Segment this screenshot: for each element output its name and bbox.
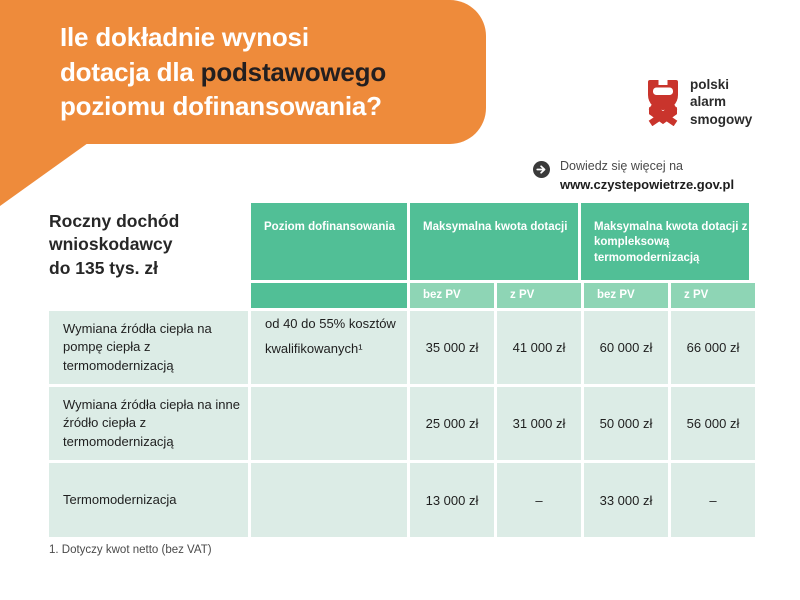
polski-alarm-smogowy-mark-icon — [645, 78, 681, 126]
row-3-value-1: 13 000 zł — [410, 463, 494, 537]
subheader-spacer — [49, 283, 248, 308]
row-3-value-3: 33 000 zł — [584, 463, 668, 537]
logo-wordmark: polski alarm smogowy — [690, 76, 752, 128]
row-3-label: Termomodernizacja — [49, 463, 248, 537]
row-1-value-3: 60 000 zł — [584, 311, 668, 384]
learn-more-text-block: Dowiedz się więcej na www.czystepowietrz… — [560, 158, 734, 194]
subheader-bez-pv-2: bez PV — [584, 283, 668, 308]
title-line-3: poziomu dofinansowania? — [60, 89, 470, 124]
arrow-right-circle-icon — [533, 161, 550, 178]
logo-line-3: smogowy — [690, 111, 752, 128]
row-1-value-1: 35 000 zł — [410, 311, 494, 384]
level-value-cell-continuation — [251, 387, 407, 460]
row-3-value-4: – — [671, 463, 755, 537]
learn-more-url[interactable]: www.czystepowietrze.gov.pl — [560, 176, 734, 194]
learn-more-label: Dowiedz się więcej na — [560, 158, 734, 176]
level-value-cell: od 40 do 55% kosztów kwalifikowanych¹ — [251, 311, 407, 384]
row-2-value-2: 31 000 zł — [497, 387, 581, 460]
logo-line-2: alarm — [690, 93, 752, 110]
column-header-group-2: Maksymalna kwota dotacji z kompleksową t… — [581, 203, 749, 280]
subheader-bez-pv-1: bez PV — [410, 283, 494, 308]
column-header-level: Poziom dofinansowania — [251, 203, 407, 280]
subheader-z-pv-2: z PV — [671, 283, 755, 308]
row-3-value-2: – — [497, 463, 581, 537]
title-line-2-accent: podstawowego — [201, 57, 386, 87]
speech-bubble-tail — [0, 138, 95, 206]
footnote: 1. Dotyczy kwot netto (bez VAT) — [49, 544, 212, 556]
learn-more-link[interactable]: Dowiedz się więcej na www.czystepowietrz… — [533, 158, 734, 194]
table-subheader-row: bez PV z PV bez PV z PV — [49, 283, 751, 308]
title-line-2-plain: dotacja dla — [60, 57, 201, 87]
table-header-row: Roczny dochódwnioskodawcydo 135 tys. zł … — [49, 203, 751, 280]
column-header-group-1: Maksymalna kwota dotacji — [410, 203, 578, 280]
subheader-z-pv-1: z PV — [497, 283, 581, 308]
row-2-value-3: 50 000 zł — [584, 387, 668, 460]
row-2-value-1: 25 000 zł — [410, 387, 494, 460]
row-1-label: Wymiana źródła ciepła na pompę ciepła z … — [49, 311, 248, 384]
level-value-cell-continuation-2 — [251, 463, 407, 537]
table-row: Wymiana źródła ciepła na inne źródło cie… — [49, 387, 751, 460]
title-line-1: Ile dokładnie wynosi — [60, 20, 470, 55]
grant-amounts-table: Roczny dochódwnioskodawcydo 135 tys. zł … — [49, 203, 751, 537]
title-banner: Ile dokładnie wynosi dotacja dla podstaw… — [0, 0, 486, 206]
row-1-value-2: 41 000 zł — [497, 311, 581, 384]
row-2-label: Wymiana źródła ciepła na inne źródło cie… — [49, 387, 248, 460]
table-row: Termomodernizacja 13 000 zł – 33 000 zł … — [49, 463, 751, 537]
brand-logo: polski alarm smogowy — [645, 76, 752, 128]
row-2-value-4: 56 000 zł — [671, 387, 755, 460]
table-row: Wymiana źródła ciepła na pompę ciepła z … — [49, 311, 751, 384]
row-header-title: Roczny dochódwnioskodawcydo 135 tys. zł — [49, 203, 248, 280]
page-title: Ile dokładnie wynosi dotacja dla podstaw… — [60, 20, 470, 124]
logo-line-1: polski — [690, 76, 752, 93]
title-line-2: dotacja dla podstawowego — [60, 55, 470, 90]
row-1-value-4: 66 000 zł — [671, 311, 755, 384]
